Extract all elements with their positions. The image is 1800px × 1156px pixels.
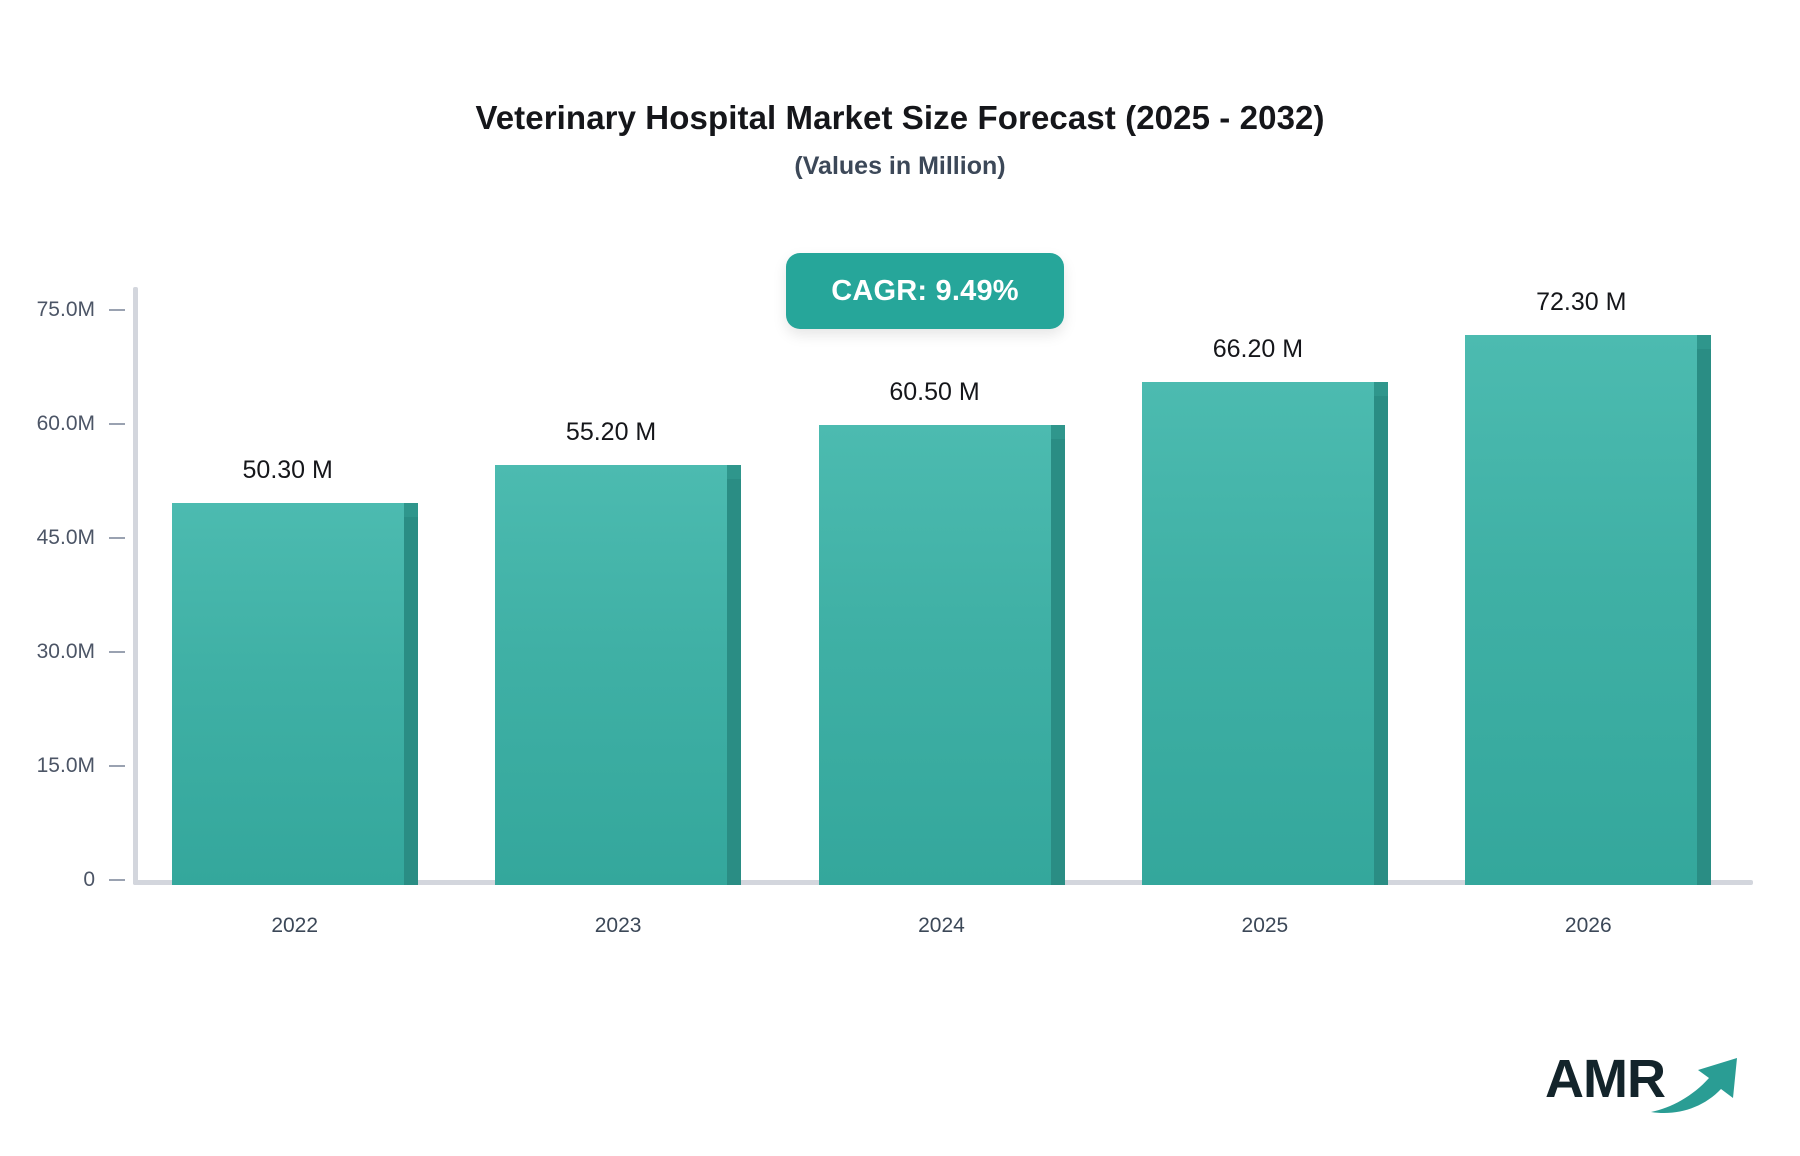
bar-side-face	[404, 517, 418, 885]
cagr-badge-label: CAGR: 9.49%	[831, 275, 1019, 308]
bar-group: 60.50 M	[819, 292, 1051, 885]
bar-value-label: 72.30 M	[1465, 288, 1697, 317]
bar	[495, 465, 727, 885]
bar-group: 50.30 M	[172, 292, 404, 885]
y-axis-tick: 75.0M	[37, 298, 133, 322]
y-axis-tick-label: 30.0M	[37, 640, 95, 664]
x-axis-tick-label: 2024	[780, 914, 1103, 938]
cagr-badge: CAGR: 9.49%	[786, 253, 1064, 329]
y-axis-tick: 30.0M	[37, 640, 133, 664]
bar-side-face	[1697, 349, 1711, 885]
bar-group: 55.20 M	[495, 292, 727, 885]
bar	[1142, 382, 1374, 885]
y-axis-tick: 15.0M	[37, 754, 133, 778]
x-axis-tick-label: 2026	[1427, 914, 1750, 938]
y-axis-ticks: 75.0M60.0M45.0M30.0M15.0M0	[0, 0, 133, 1156]
y-axis-tick-label: 15.0M	[37, 754, 95, 778]
bar	[819, 425, 1051, 885]
y-axis-tick-label: 0	[83, 868, 95, 892]
y-axis-tick-mark	[109, 309, 125, 311]
y-axis-tick: 0	[83, 868, 133, 892]
y-axis-tick-mark	[109, 765, 125, 767]
bar-group: 72.30 M	[1465, 292, 1697, 885]
y-axis-tick-mark	[109, 651, 125, 653]
bar-face	[172, 503, 404, 885]
y-axis-tick-label: 75.0M	[37, 298, 95, 322]
x-axis-tick-label: 2023	[456, 914, 779, 938]
y-axis-tick-mark	[109, 879, 125, 881]
bar-face	[1465, 335, 1697, 885]
bar-face	[1142, 382, 1374, 885]
bar-top-bevel	[727, 465, 741, 479]
bar-group: 66.20 M	[1142, 292, 1374, 885]
y-axis-tick-mark	[109, 537, 125, 539]
bar-value-label: 60.50 M	[819, 378, 1051, 407]
bar-top-bevel	[1051, 425, 1065, 439]
bar-value-label: 66.20 M	[1142, 335, 1374, 364]
bar-top-bevel	[404, 503, 418, 517]
x-axis-tick-label: 2022	[133, 914, 456, 938]
bar-face	[819, 425, 1051, 885]
chart-title: Veterinary Hospital Market Size Forecast…	[0, 98, 1800, 138]
plot-area: 50.30 M55.20 M60.50 M66.20 M72.30 M	[133, 287, 1750, 885]
bar	[1465, 335, 1697, 885]
chart-header: Veterinary Hospital Market Size Forecast…	[0, 98, 1800, 182]
amr-wordmark: AMR	[1545, 1048, 1665, 1110]
bar-value-label: 55.20 M	[495, 418, 727, 447]
amr-logo: AMR	[1545, 1030, 1745, 1126]
bar-top-bevel	[1374, 382, 1388, 396]
y-axis-tick: 60.0M	[37, 412, 133, 436]
bar-side-face	[1374, 396, 1388, 885]
chart-card: Veterinary Hospital Market Size Forecast…	[0, 0, 1800, 1156]
y-axis-tick: 45.0M	[37, 526, 133, 550]
bar-face	[495, 465, 727, 885]
growth-arrow-icon	[1649, 1046, 1745, 1118]
bar-top-bevel	[1697, 335, 1711, 349]
bar-value-label: 50.30 M	[172, 456, 404, 485]
y-axis-tick-label: 60.0M	[37, 412, 95, 436]
chart-subtitle: (Values in Million)	[0, 150, 1800, 182]
bar	[172, 503, 404, 885]
y-axis-tick-label: 45.0M	[37, 526, 95, 550]
y-axis-tick-mark	[109, 423, 125, 425]
bar-side-face	[1051, 439, 1065, 885]
x-axis-tick-label: 2025	[1103, 914, 1426, 938]
bar-side-face	[727, 479, 741, 885]
